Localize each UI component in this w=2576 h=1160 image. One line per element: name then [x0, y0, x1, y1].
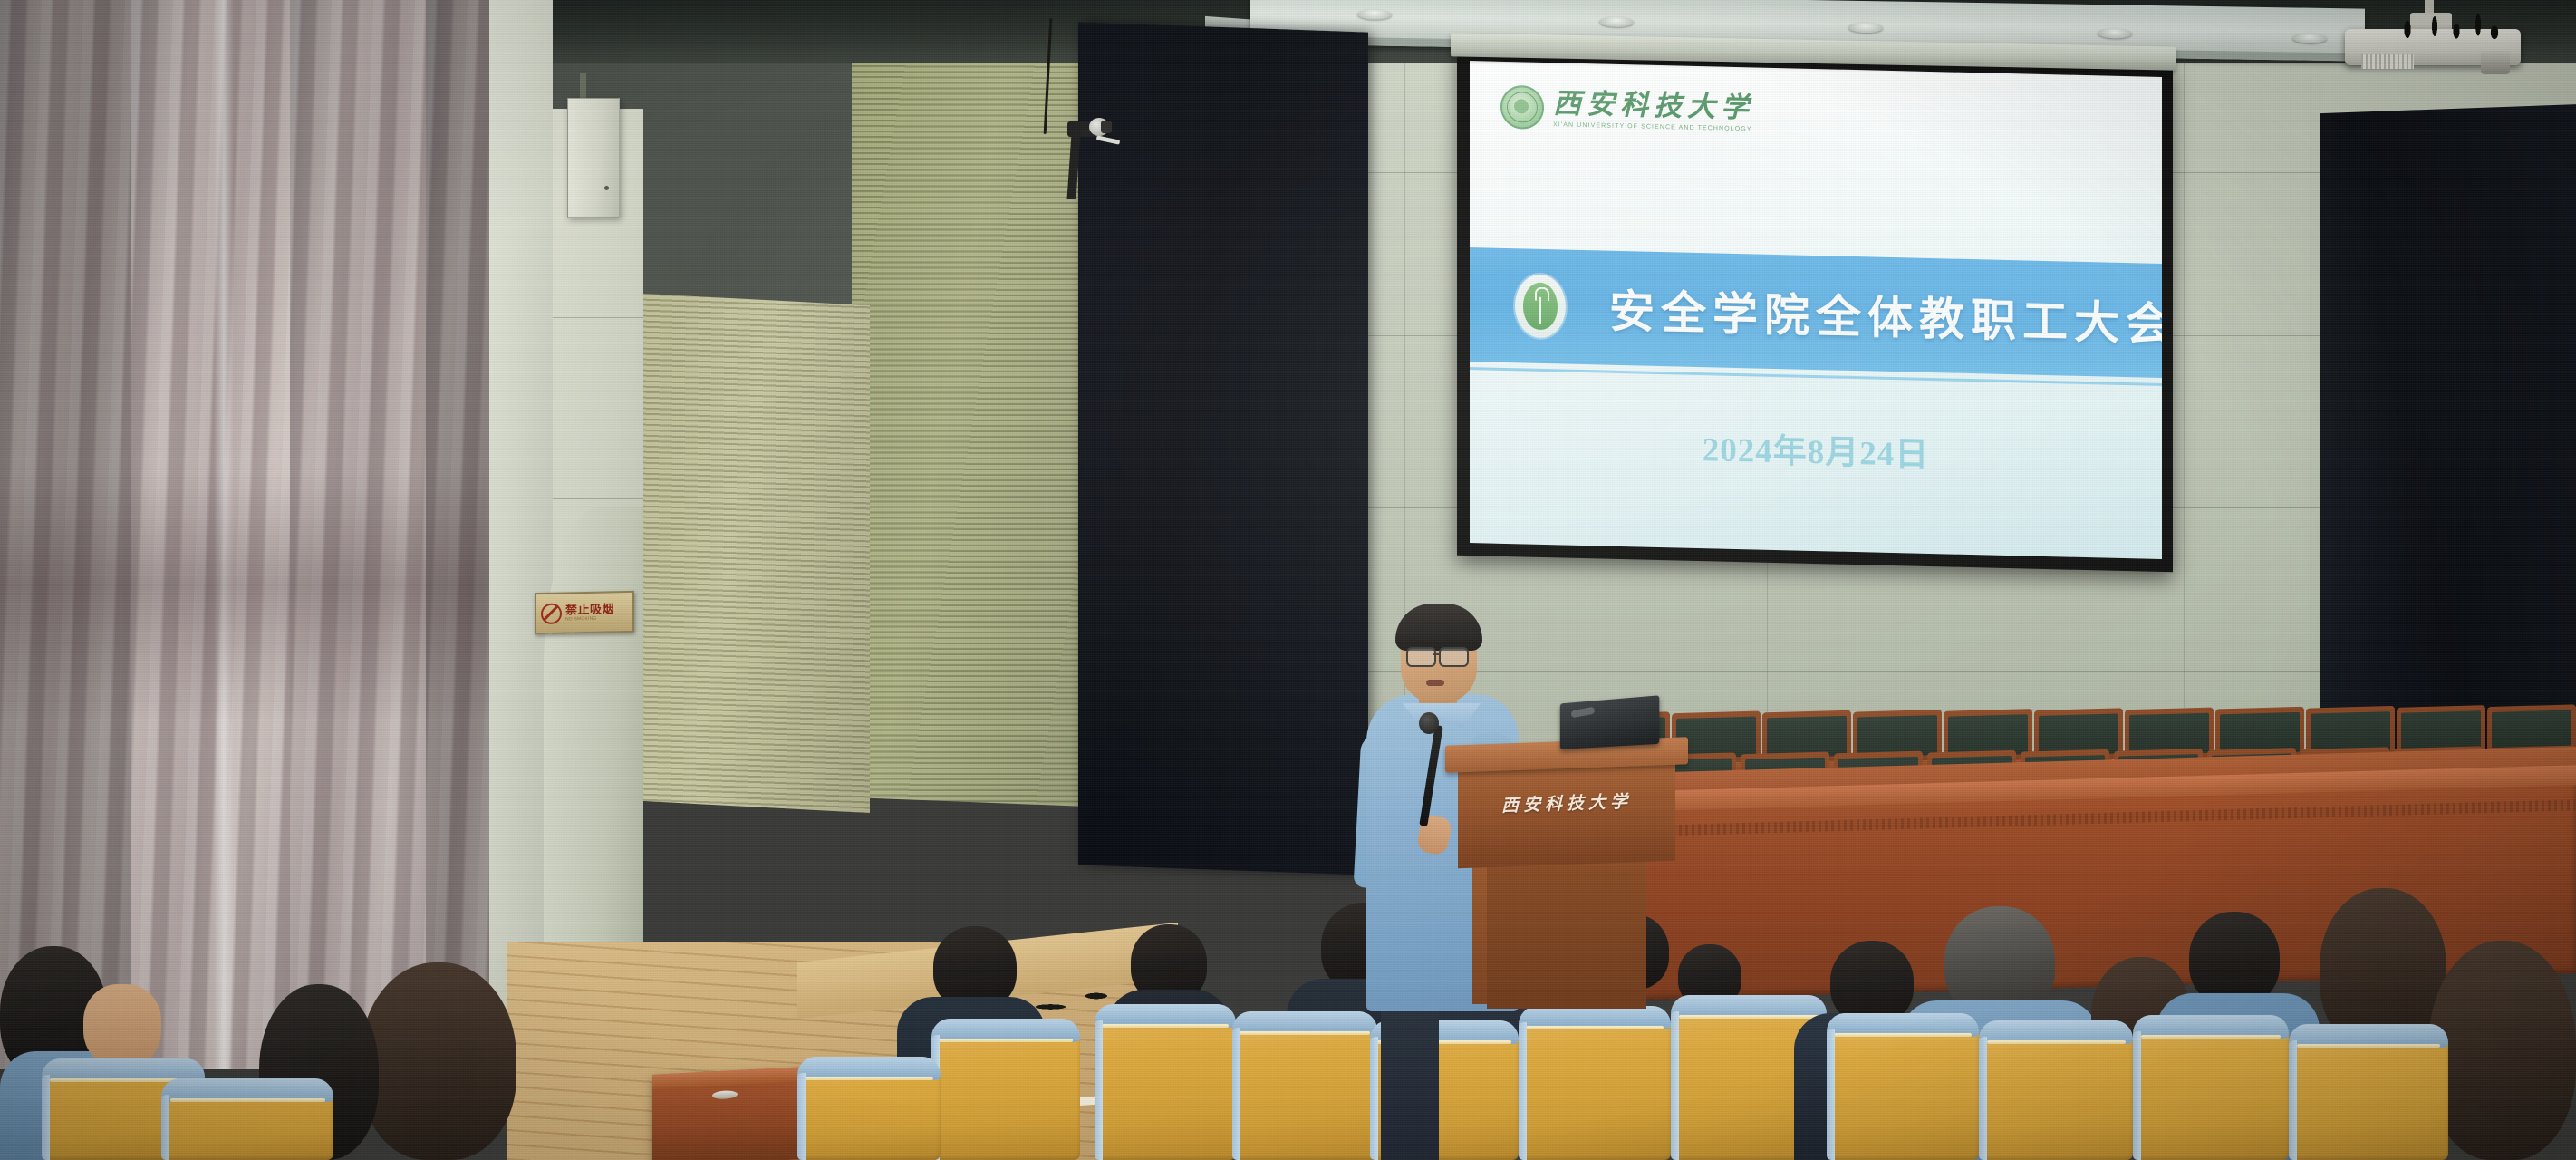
stage-curtain-right	[2320, 104, 2576, 802]
auditorium-seat[interactable]	[1979, 1020, 2133, 1160]
acoustic-wood-panel-left	[625, 293, 870, 813]
auditorium-seat[interactable]	[931, 1019, 1080, 1160]
curtain-shadow	[0, 471, 544, 725]
college-emblem-icon	[1515, 274, 1566, 338]
presentation-slide: 西安科技大学 XI'AN UNIVERSITY OF SCIENCE AND T…	[1470, 61, 2162, 559]
auditorium-seat[interactable]	[1095, 1004, 1236, 1160]
presenter-mouth	[1426, 680, 1444, 686]
no-smoking-icon	[541, 603, 562, 623]
university-seal-icon	[1500, 85, 1544, 130]
auditorium-seat[interactable]	[2289, 1024, 2448, 1160]
projector-cables	[2372, 11, 2508, 42]
no-smoking-sign: 禁止吸烟 NO SMOKING	[535, 591, 634, 634]
glasses-icon	[1439, 647, 1469, 667]
auditorium-seat[interactable]	[2133, 1015, 2289, 1160]
window-curtains	[0, 0, 544, 1069]
auditorium-seat[interactable]	[1519, 1006, 1671, 1160]
slide-date: 2024年8月24日	[1470, 416, 2162, 481]
auditorium-seat[interactable]	[797, 1057, 941, 1160]
projector-lens-icon	[2481, 51, 2510, 74]
university-name-cn: 西安科技大学	[1553, 89, 1754, 121]
auditorium-seat[interactable]	[1232, 1011, 1377, 1160]
slide-university-logo: 西安科技大学 XI'AN UNIVERSITY OF SCIENCE AND T…	[1500, 85, 1754, 135]
presenter-laptop	[1558, 700, 1664, 750]
audience-head	[2189, 912, 2280, 1006]
audience-head	[2428, 941, 2576, 1160]
microphone-icon	[1419, 712, 1439, 734]
table-cable-grommet	[712, 1090, 738, 1099]
wall-speaker-box	[567, 98, 620, 217]
slide-title-band: 安全学院全体教职工大会	[1470, 247, 2162, 378]
security-camera	[1058, 118, 1111, 145]
projection-screen: 西安科技大学 XI'AN UNIVERSITY OF SCIENCE AND T…	[1457, 48, 2173, 573]
audience-head	[83, 984, 161, 1068]
university-name-en: XI'AN UNIVERSITY OF SCIENCE AND TECHNOLO…	[1553, 121, 1754, 132]
no-smoking-label-en: NO SMOKING	[565, 616, 614, 622]
audience-head	[361, 962, 516, 1160]
ceiling-projector	[2345, 13, 2521, 65]
audience-head	[1830, 941, 1914, 1024]
auditorium-photo: 禁止吸烟 NO SMOKING 西安科技大学 XI'AN UNIVERSIT	[0, 0, 2576, 1160]
stage-curtain-left	[1078, 22, 1368, 875]
lectern: 西安科技大学	[1445, 741, 1688, 1004]
auditorium-seat[interactable]	[161, 1078, 333, 1160]
no-smoking-label-cn: 禁止吸烟	[565, 603, 614, 615]
auditorium-seat[interactable]	[1827, 1013, 1979, 1160]
slide-title: 安全学院全体教职工大会	[1609, 275, 2162, 354]
glasses-icon	[1406, 647, 1436, 667]
